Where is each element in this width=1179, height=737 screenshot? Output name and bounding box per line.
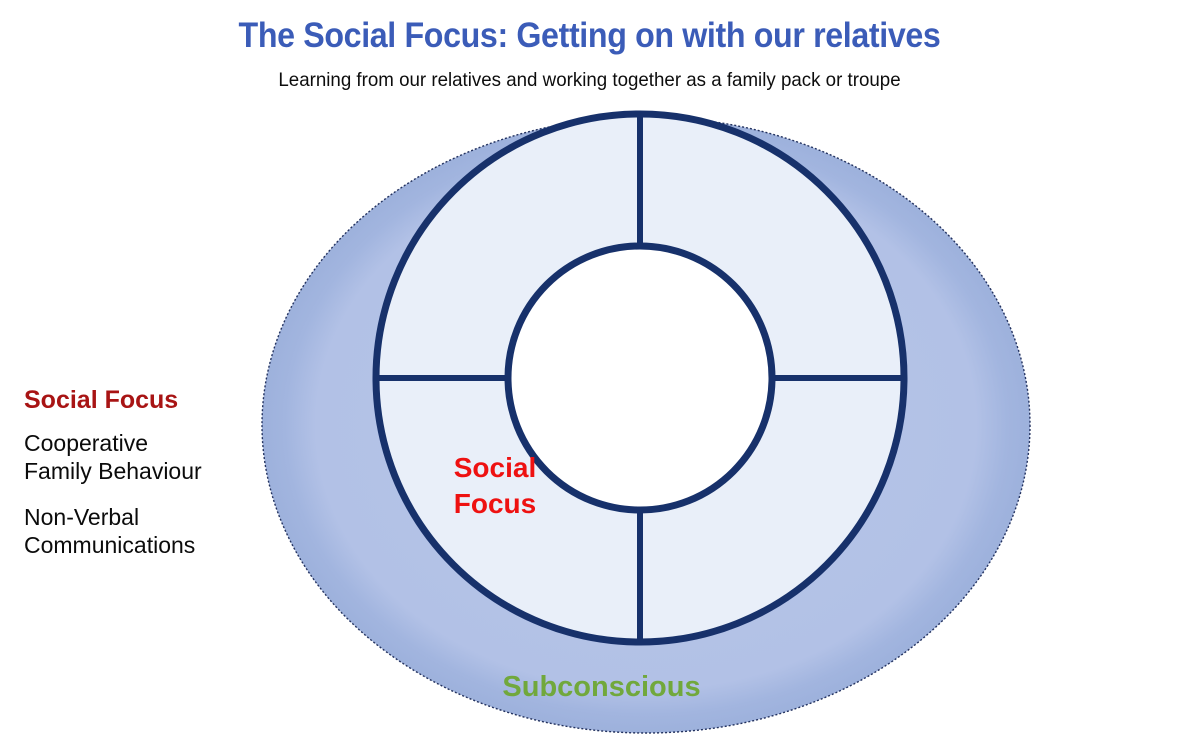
legend-heading: Social Focus <box>24 385 274 415</box>
legend-item-cooperative-family-behaviour: Cooperative Family Behaviour <box>24 429 274 485</box>
ring-center-label: Social Focus <box>400 450 590 522</box>
social-focus-diagram <box>0 0 1179 737</box>
page-title: The Social Focus: Getting on with our re… <box>47 18 1132 55</box>
legend-item-non-verbal-communications: Non-Verbal Communications <box>24 503 274 559</box>
page-subtitle: Learning from our relatives and working … <box>24 69 1156 91</box>
social-focus-ring <box>376 114 904 642</box>
subconscious-label: Subconscious <box>12 671 1179 704</box>
legend-block: Social Focus Cooperative Family Behaviou… <box>24 385 274 559</box>
slide-canvas: The Social Focus: Getting on with our re… <box>0 0 1179 737</box>
